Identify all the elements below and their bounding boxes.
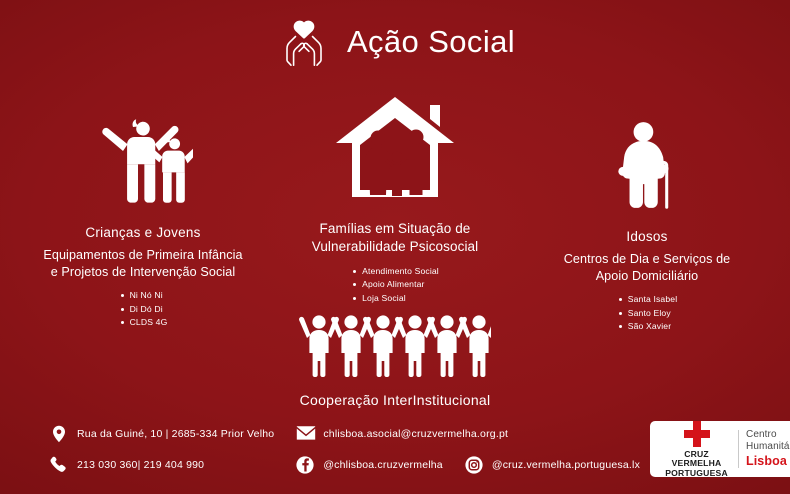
footer-email[interactable]: chlisboa.asocial@cruzvermelha.org.pt: [296, 425, 640, 443]
footer-contacts: Rua da Guiné, 10 | 2685-334 Prior Velho …: [50, 425, 640, 474]
column-subtitle-line: Famílias em Situação de: [312, 220, 479, 238]
list-item: Apoio Alimentar: [353, 278, 439, 291]
facebook-icon: [296, 456, 314, 474]
column-familias: Famílias em Situação de Vulnerabilidade …: [270, 100, 520, 305]
header: Ação Social: [0, 14, 790, 72]
envelope-icon: [296, 425, 314, 443]
phone-icon: [50, 456, 68, 474]
logo-wordmark-line3: PORTUGUESA: [665, 469, 728, 478]
column-subtitle: Centros de Dia e Serviços de Apoio Domic…: [564, 251, 731, 284]
footer-phone: 213 030 360| 219 404 990: [50, 456, 274, 474]
column-icon-wrap: [93, 108, 193, 212]
column-icon-wrap: [330, 100, 460, 204]
red-cross-icon: [682, 420, 712, 448]
footer-phone-text: 213 030 360| 219 404 990: [77, 459, 204, 471]
logo-centro-line2: Humanitário: [746, 441, 790, 454]
footer-email-text: chlisboa.asocial@cruzvermelha.org.pt: [323, 428, 508, 440]
column-subtitle: Equipamentos de Primeira Infância e Proj…: [43, 247, 242, 280]
cooperation-block: Cooperação InterInstitucional: [0, 313, 790, 408]
logo-left-block: CRUZ VERMELHA PORTUGUESA: [657, 420, 736, 478]
location-pin-icon: [50, 425, 68, 443]
footer-facebook-text: @chlisboa.cruzvermelha: [323, 459, 443, 471]
cruz-vermelha-logo: CRUZ VERMELHA PORTUGUESA Centro Humanitá…: [650, 421, 790, 477]
column-subtitle-line: Equipamentos de Primeira Infância: [43, 247, 242, 264]
logo-city: Lisboa: [746, 454, 790, 470]
column-title: Crianças e Jovens: [85, 225, 200, 240]
logo-divider: [738, 430, 739, 468]
column-subtitle: Famílias em Situação de Vulnerabilidade …: [312, 220, 479, 256]
heart-in-hands-icon: [275, 14, 333, 72]
elderly-person-with-cane-icon: [604, 121, 690, 216]
column-criancas-e-jovens: Crianças e Jovens Equipamentos de Primei…: [18, 108, 268, 329]
column-subtitle-line: e Projetos de Intervenção Social: [43, 264, 242, 281]
column-icon-wrap: [604, 112, 690, 216]
column-subtitle-line: Centros de Dia e Serviços de: [564, 251, 731, 268]
children-raising-arms-icon: [93, 116, 193, 212]
footer: Rua da Guiné, 10 | 2685-334 Prior Velho …: [0, 410, 790, 488]
column-subtitle-line: Apoio Domiciliário: [564, 268, 731, 285]
logo-right-block: Centro Humanitário Lisboa: [746, 429, 790, 470]
page-title: Ação Social: [347, 26, 515, 61]
list-item: Santa Isabel: [619, 293, 678, 306]
footer-instagram[interactable]: @cruz.vermelha.portuguesa.lx: [465, 456, 640, 474]
footer-facebook[interactable]: @chlisboa.cruzvermelha: [296, 456, 443, 474]
list-item: Loja Social: [353, 292, 439, 305]
service-columns: Crianças e Jovens Equipamentos de Primei…: [0, 100, 790, 333]
list-item: Ni Nó Ni: [121, 289, 168, 302]
footer-address: Rua da Guiné, 10 | 2685-334 Prior Velho: [50, 425, 274, 443]
people-holding-hands-icon: [299, 313, 491, 382]
logo-centro-line1: Centro: [746, 429, 790, 442]
instagram-icon: [465, 456, 483, 474]
footer-instagram-text: @cruz.vermelha.portuguesa.lx: [492, 459, 640, 471]
column-title: Idosos: [626, 229, 667, 244]
house-with-family-icon: [330, 95, 460, 204]
footer-address-text: Rua da Guiné, 10 | 2685-334 Prior Velho: [77, 428, 274, 440]
column-idosos: Idosos Centros de Dia e Serviços de Apoi…: [522, 112, 772, 333]
cooperation-title: Cooperação InterInstitucional: [300, 392, 491, 408]
column-service-list: Atendimento Social Apoio Alimentar Loja …: [351, 265, 439, 305]
logo-wordmark: CRUZ VERMELHA PORTUGUESA: [665, 450, 728, 478]
poster-root: Ação Social: [0, 0, 790, 494]
column-subtitle-line: Vulnerabilidade Psicosocial: [312, 238, 479, 256]
list-item: Atendimento Social: [353, 265, 439, 278]
